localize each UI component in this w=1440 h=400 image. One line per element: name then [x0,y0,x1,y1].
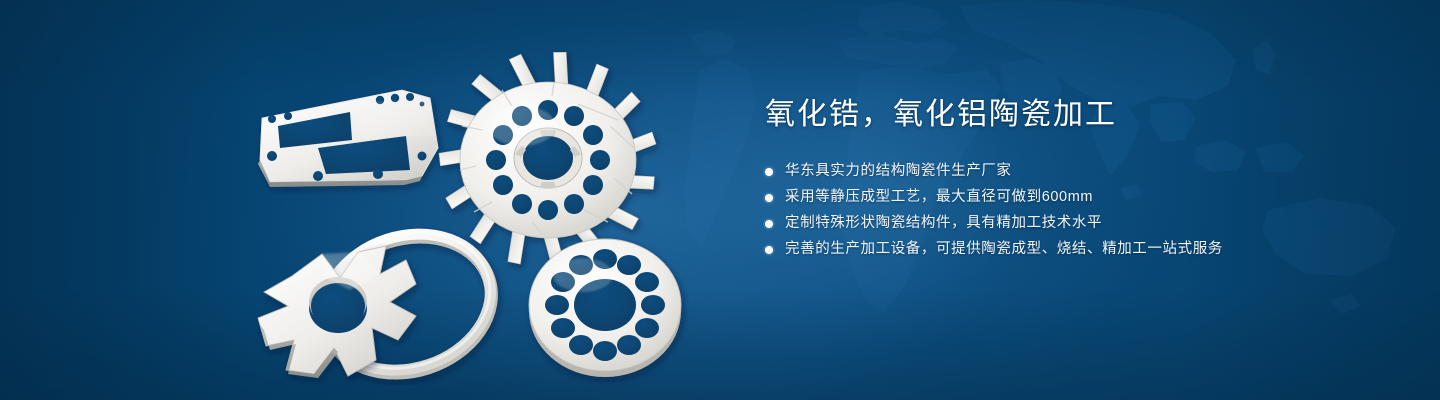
feature-text: 定制特殊形状陶瓷结构件，具有精加工技术水平 [785,216,1102,231]
bullet-dot-icon [765,246,773,254]
bullet-dot-icon [765,194,773,202]
ceramic-plate [258,90,438,187]
list-item: 采用等静压成型工艺，最大直径可做到600mm [765,186,1385,209]
ceramic-hole-ring-disc [529,239,681,377]
bullet-dot-icon [765,168,773,176]
feature-text: 华东具实力的结构陶瓷件生产厂家 [785,164,1012,179]
feature-list: 华东具实力的结构陶瓷件生产厂家 采用等静压成型工艺，最大直径可做到600mm 定… [765,160,1385,261]
bullet-dot-icon [765,220,773,228]
list-item: 华东具实力的结构陶瓷件生产厂家 [765,160,1385,183]
feature-text: 完善的生产加工设备，可提供陶瓷成型、烧结、精加工一站式服务 [785,242,1223,257]
feature-text: 采用等静压成型工艺，最大直径可做到600mm [785,190,1093,205]
banner-headline: 氧化锆，氧化铝陶瓷加工 [765,100,1385,130]
list-item: 定制特殊形状陶瓷结构件，具有精加工技术水平 [765,212,1385,235]
promo-banner: 氧化锆，氧化铝陶瓷加工 华东具实力的结构陶瓷件生产厂家 采用等静压成型工艺，最大… [0,0,1440,400]
list-item: 完善的生产加工设备，可提供陶瓷成型、烧结、精加工一站式服务 [765,238,1385,261]
banner-text-block: 氧化锆，氧化铝陶瓷加工 华东具实力的结构陶瓷件生产厂家 采用等静压成型工艺，最大… [765,100,1385,264]
product-photo-cluster [230,40,700,385]
ceramic-impeller [437,49,659,271]
